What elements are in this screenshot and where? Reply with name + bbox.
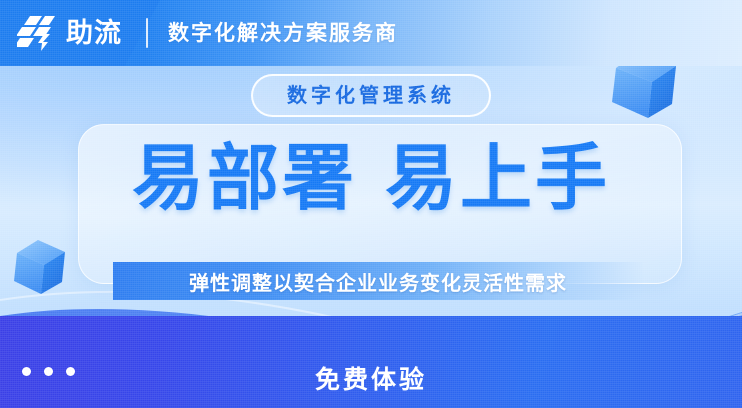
site-header: 助流 数字化解决方案服务商: [0, 0, 742, 66]
carousel-dot[interactable]: [66, 367, 75, 376]
carousel-dot[interactable]: [44, 367, 53, 376]
carousel-dot[interactable]: [22, 367, 31, 376]
carousel-indicators[interactable]: [22, 367, 75, 376]
flow-bolt-logo-icon: [17, 14, 57, 52]
footer-band: [0, 316, 742, 408]
free-trial-cta[interactable]: 免费体验: [0, 367, 742, 392]
hero-subtitle: 弹性调整以契合企业业务变化灵活性需求: [113, 262, 643, 300]
headline-part-left: 易部署: [132, 136, 357, 220]
system-badge: 数字化管理系统: [251, 74, 491, 117]
vertical-divider-icon: [146, 18, 148, 48]
header-tagline: 数字化解决方案服务商: [168, 23, 398, 44]
cube-3d-decoration-left: [12, 238, 70, 300]
brand-logo[interactable]: 助流: [17, 14, 122, 52]
promo-banner: 助流 数字化解决方案服务商 数字化管理系统 易部署易上手 弹性调整以契合企业业务…: [0, 0, 742, 408]
hero-headline: 易部署易上手: [0, 142, 742, 214]
headline-part-right: 易上手: [385, 136, 610, 220]
brand-name: 助流: [66, 20, 122, 47]
